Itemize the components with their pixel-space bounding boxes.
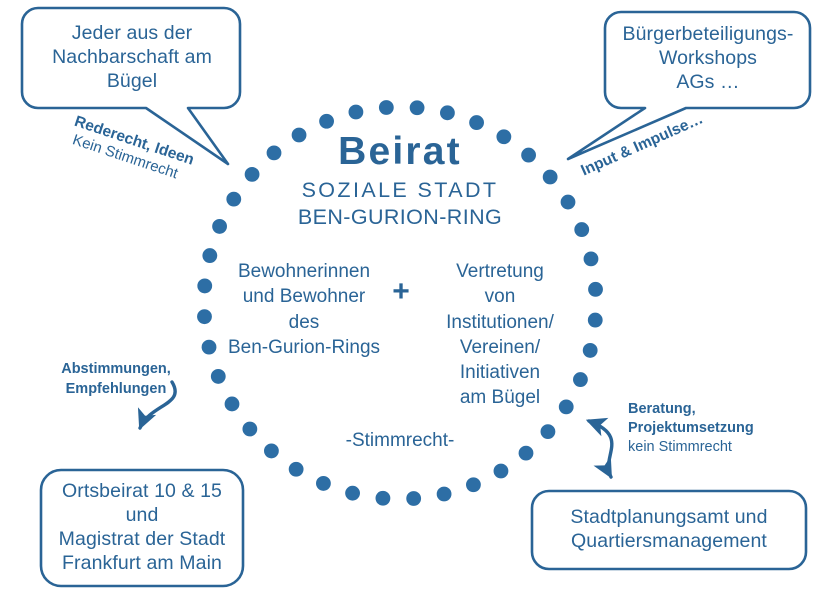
subtitle-line-1: SOZIALE STADT [250,177,550,203]
voting-rights-note: -Stimmrecht- [320,429,480,452]
diagram-canvas: Jeder aus der Nachbarschaft am Bügel Red… [0,0,820,600]
ring-dot [349,105,364,120]
ring-dot [225,397,240,412]
ring-dot [410,100,425,115]
ring-dot [519,446,534,461]
ring-dot [584,252,599,267]
page-title: Beirat [250,128,550,176]
ring-dot [437,487,452,502]
ring-dot [406,491,421,506]
subtitle-line-2: BEN-GURION-RING [250,204,550,230]
ring-dot [376,491,391,506]
members-residents-column: Bewohnerinnen und Bewohner des Ben-Gurio… [215,259,393,360]
arrow-label-abstimmungen: Abstimmungen, Empfehlungen [48,360,184,399]
bubble-top-right-text: Bürgerbeteiligungs- Workshops AGs … [609,16,807,102]
ring-dot [212,219,227,234]
ring-dot [289,462,304,477]
ring-dot [226,192,241,207]
ring-dot [197,309,212,324]
ring-dot [242,422,257,437]
arrow-label-beratung-bold: Beratung, Projektumsetzung [628,401,754,436]
ring-dot [466,477,481,492]
ring-dot [440,105,455,120]
ring-dot [561,195,576,210]
box-bottom-right-text: Stadtplanungsamt und Quartiersmanagement [536,494,802,566]
members-institutions-column: Vertretung von Institutionen/ Vereinen/ … [422,259,578,411]
ring-dot [379,100,394,115]
ring-dot [494,464,509,479]
arrow-label-beratung: Beratung, Projektumsetzung kein Stimmrec… [628,400,788,457]
ring-dot [316,476,331,491]
ring-dot [345,486,360,501]
ring-dot [211,369,226,384]
plus-icon: + [386,277,416,307]
ring-dot [264,444,279,459]
ring-dot [541,424,556,439]
box-bottom-left-text: Ortsbeirat 10 & 15 und Magistrat der Sta… [44,476,240,580]
ring-dot [588,282,603,297]
arrow-label-beratung-sub: kein Stimmrecht [628,438,788,457]
bubble-top-left-text: Jeder aus der Nachbarschaft am Bügel [26,14,238,102]
ring-dot [588,313,603,328]
arrow-beratung [589,421,612,477]
ring-dot [574,222,589,237]
ring-dot [319,114,334,129]
ring-dot [197,279,212,294]
ring-dot [583,343,598,358]
